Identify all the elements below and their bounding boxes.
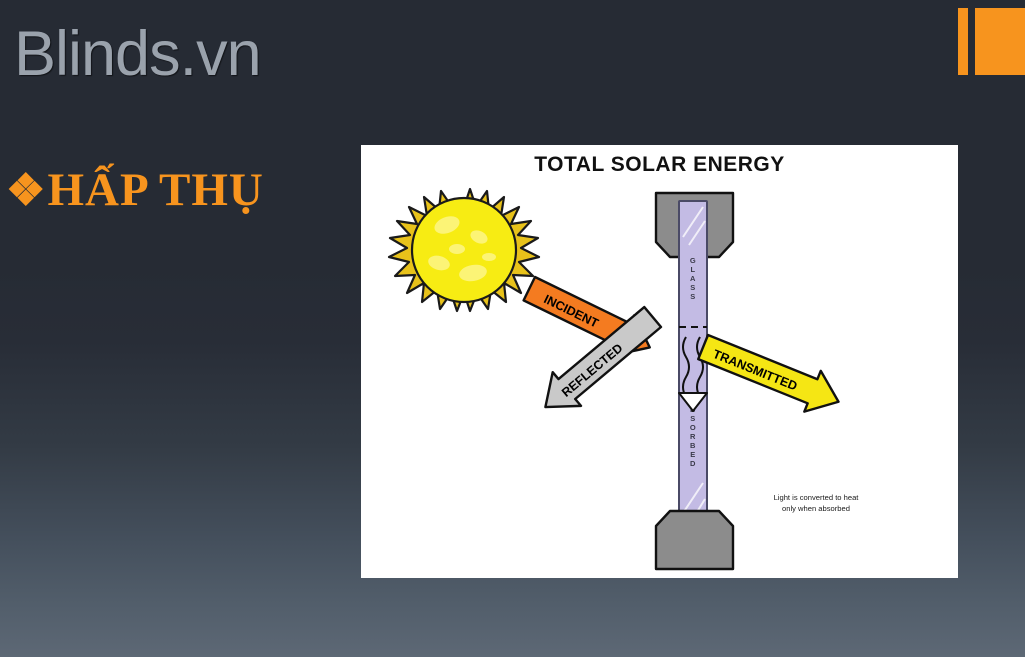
solar-energy-diagram: GLASS ABSORBED INCIDENT REFLECTED <box>361 145 958 578</box>
glass-label: GLASS <box>690 256 696 301</box>
window-frame-bottom <box>656 511 733 569</box>
brand-wordmark: Blinds.vn <box>14 18 261 90</box>
slide-heading: ❖ HẤP THỤ <box>6 166 264 215</box>
corner-mark-bar <box>958 8 968 75</box>
transmitted-arrow: TRANSMITTED <box>695 327 847 422</box>
slide-canvas: Blinds.vn ❖ HẤP THỤ TOTAL SOLAR ENERGY <box>0 0 1025 657</box>
sun-icon <box>389 189 539 311</box>
diagram-panel: TOTAL SOLAR ENERGY <box>361 145 958 578</box>
diagram-caption-line1: Light is converted to heat <box>774 493 860 502</box>
heading-label: HẤP THỤ <box>47 166 263 215</box>
diagram-caption-line2: only when absorbed <box>782 504 850 513</box>
corner-mark-gap <box>968 8 975 75</box>
corner-mark-square <box>975 8 1025 75</box>
diamond-bullet-icon: ❖ <box>6 169 45 213</box>
orange-corner-mark <box>958 8 1025 75</box>
